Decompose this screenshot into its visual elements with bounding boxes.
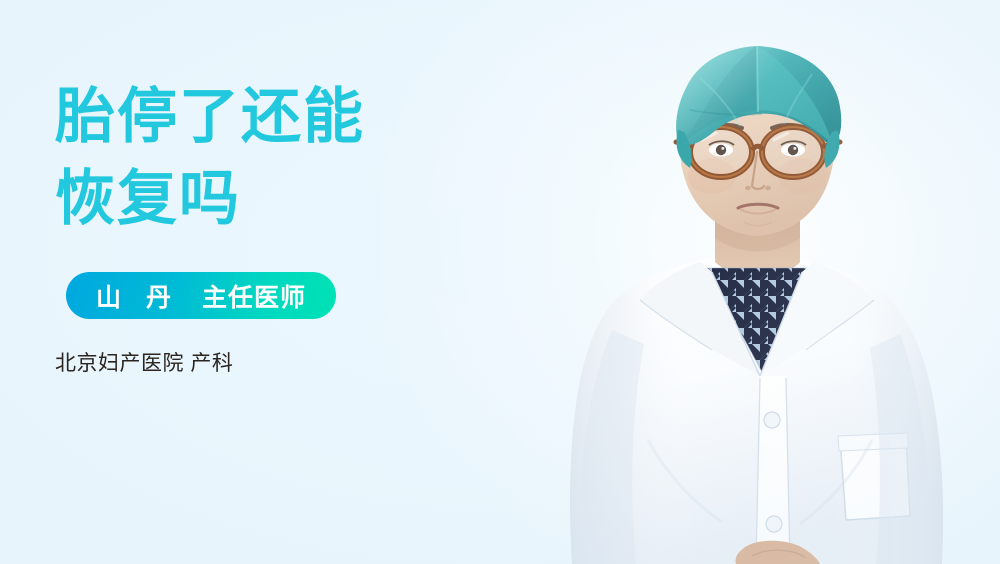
- page-title: 胎停了还能 恢复吗: [55, 76, 485, 240]
- doctor-name: 山 丹: [96, 278, 180, 314]
- doctor-video-thumbnail: 胎停了还能 恢复吗 山 丹 主任医师 北京妇产医院 产科: [0, 0, 1000, 564]
- title-line-2: 恢复吗: [55, 158, 485, 240]
- doctor-title: 主任医师: [202, 278, 306, 314]
- info-panel: 胎停了还能 恢复吗 山 丹 主任医师 北京妇产医院 产科: [55, 76, 485, 377]
- title-line-1: 胎停了还能: [55, 76, 485, 158]
- affiliation-line: 北京妇产医院 产科: [55, 347, 485, 377]
- doctor-credential-badge: 山 丹 主任医师: [66, 272, 336, 319]
